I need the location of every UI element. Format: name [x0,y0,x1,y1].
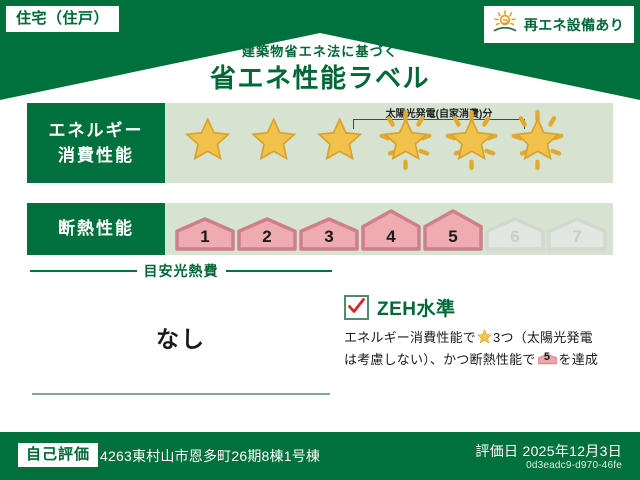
utility-cost-title: 目安光熱費 [144,261,219,281]
insulation-performance-row: 断熱性能 1234567 [27,203,613,255]
insulation-label-text: 断熱性能 [58,218,134,240]
zeh-checkbox [344,295,369,320]
sun-icon [492,10,518,39]
star-icon [307,109,372,177]
zeh-section: ZEH水準 エネルギー消費性能で 3つ（太陽光発電 は考慮しない）、かつ断熱性能… [344,294,620,370]
building-address: 4263東村山市恩多町26期8棟1号棟 [100,446,320,466]
energy-consumption-row: エネルギー 消費性能 太陽光発電(自家消費)分 [27,103,613,183]
star-icon-solar [505,109,570,177]
housing-type-tag: 住宅（住戸） [6,6,119,32]
zeh-desc-part1: エネルギー消費性能で [344,330,476,345]
insulation-grades-area: 1234567 [165,203,613,255]
star-rating [175,103,613,183]
energy-label-line1: エネルギー [49,118,144,143]
evaluation-date: 評価日 2025年12月3日 [475,441,622,461]
renewable-energy-label: 再エネ設備あり [524,15,624,35]
insulation-grade-1: 1 [175,217,235,251]
utility-cost-heading: 目安光熱費 [30,263,332,279]
utility-cost-value: なし [30,320,332,354]
housing-type-label: 住宅（住戸） [16,10,109,27]
insulation-grade-2: 2 [237,217,297,251]
zeh-desc-part3: は考慮しない）、かつ断熱性能で [344,352,536,367]
insulation-grade-scale: 1234567 [175,203,613,255]
insulation-grade-value: 6 [485,227,545,247]
page-title: 省エネ性能ラベル [0,58,640,95]
cost-rule-right [226,270,333,272]
star-icon [241,109,306,177]
insulation-grade-value: 7 [547,227,607,247]
star-icon-solar [439,109,504,177]
energy-stars-area: 太陽光発電(自家消費)分 [165,103,613,183]
cost-divider [32,393,330,395]
zeh-desc-part2: 3つ（太陽光発電 [493,330,593,345]
insulation-grade-5: 5 [423,209,483,251]
document-id: 0d3eadc9-d970-46fe [526,460,622,471]
footer-bar: 自己評価 4263東村山市恩多町26期8棟1号棟 評価日 2025年12月3日 … [0,432,640,480]
insulation-label: 断熱性能 [27,203,165,255]
renewable-energy-badge: 再エネ設備あり [484,6,634,43]
insulation-grade-value: 3 [299,227,359,247]
zeh-desc-part4: を達成 [559,352,599,367]
zeh-grade-chip: 5 [538,351,557,367]
insulation-grade-6: 6 [485,217,545,251]
star-icon [175,109,240,177]
insulation-grade-7: 7 [547,217,607,251]
zeh-title: ZEH水準 [377,294,456,321]
energy-performance-label: 住宅（住戸） 再エネ設備あり 建築物省エネ法に基づく 省エ [0,0,640,480]
insulation-grade-3: 3 [299,217,359,251]
zeh-grade-value: 5 [538,347,557,367]
insulation-grade-value: 5 [423,227,483,247]
insulation-grade-4: 4 [361,209,421,251]
evaluation-type-badge: 自己評価 [18,443,98,467]
star-icon-solar [373,109,438,177]
energy-label-line2: 消費性能 [58,143,134,168]
zeh-heading: ZEH水準 [344,294,620,321]
star-icon [477,329,492,350]
energy-consumption-label: エネルギー 消費性能 [27,103,165,183]
insulation-grade-value: 2 [237,227,297,247]
cost-rule-left [30,270,137,272]
zeh-description: エネルギー消費性能で 3つ（太陽光発電 は考慮しない）、かつ断熱性能で 5 を達… [344,328,620,370]
insulation-grade-value: 4 [361,227,421,247]
insulation-grade-value: 1 [175,227,235,247]
